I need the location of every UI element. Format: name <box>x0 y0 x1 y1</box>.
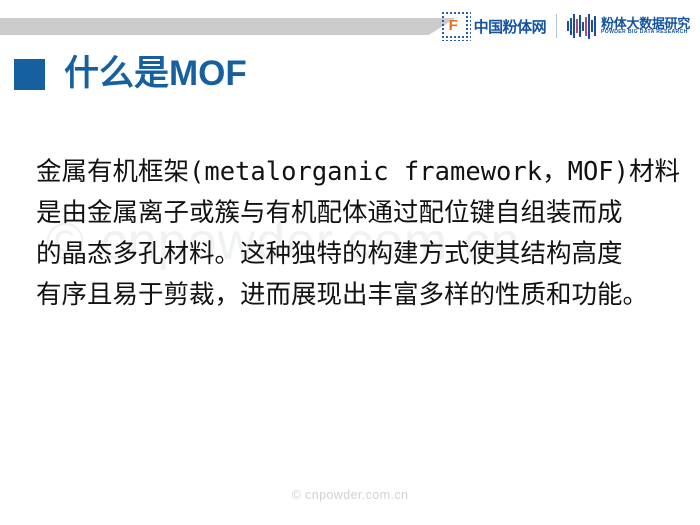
body-line: 有序且易于剪裁，进而展现出丰富多样的性质和功能。 <box>36 275 688 316</box>
header-angled-banner <box>0 18 456 35</box>
logo-divider <box>556 14 557 38</box>
logo-powder-big-data-label-cn: 粉体大数据研究 <box>601 17 690 31</box>
logo-cnpowder-label: 中国粉体网 <box>474 16 547 37</box>
slide-title-row: 什么是MOF <box>14 56 247 92</box>
page-title: 什么是MOF <box>64 56 247 92</box>
logo-cnpowder[interactable]: F 中国粉体网 <box>441 9 547 43</box>
cnpowder-dotted-f-icon: F <box>441 11 471 41</box>
logo-powder-big-data[interactable]: 粉体大数据研究 POWDER BIG DATA RESEARCH <box>567 9 690 43</box>
footer-watermark: © cnpowder.com.cn <box>0 488 700 502</box>
body-line: 的晶态多孔材料。这种独特的构建方式使其结构高度 <box>36 234 688 275</box>
body-paragraph: 金属有机框架(metalorganic framework，MOF)材料 是由金… <box>36 152 688 316</box>
body-line: 金属有机框架(metalorganic framework，MOF)材料 <box>36 152 688 193</box>
square-bullet-icon <box>14 59 45 90</box>
data-bars-icon <box>567 13 597 39</box>
header-logo-group: F 中国粉体网 粉体大数据研究 POWDER BIG DATA RESEARCH <box>441 8 690 44</box>
body-line: 是由金属离子或簇与有机配体通过配位键自组装而成 <box>36 193 688 234</box>
logo-powder-big-data-label-en: POWDER BIG DATA RESEARCH <box>601 30 692 35</box>
